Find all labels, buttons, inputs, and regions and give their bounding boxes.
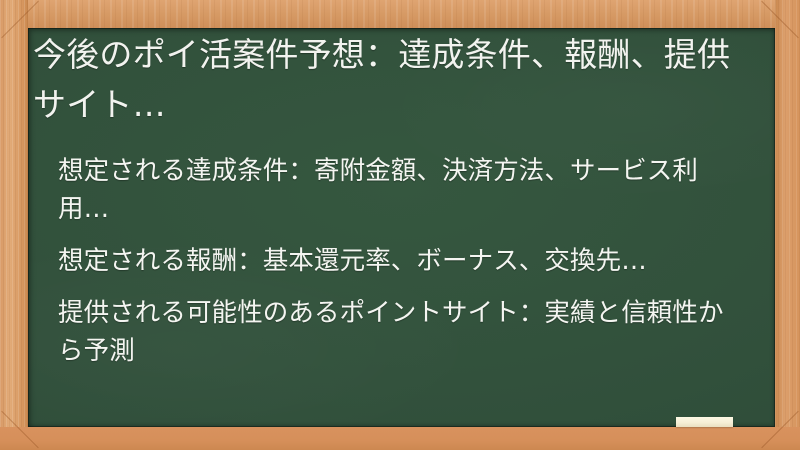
- chalk-stick-icon: [676, 417, 733, 427]
- slide-canvas: 今後のポイ活案件予想：達成条件、報酬、提供サイト… 想定される達成条件：寄附金額…: [0, 0, 800, 450]
- list-item: 想定される報酬：基本還元率、ボーナス、交換先…: [58, 242, 748, 280]
- list-item: 想定される達成条件：寄附金額、決済方法、サービス利用…: [58, 152, 748, 228]
- frame-rail-top: [0, 0, 800, 28]
- slide-title: 今後のポイ活案件予想：達成条件、報酬、提供サイト…: [33, 30, 745, 130]
- frame-rail-left: [0, 0, 28, 450]
- frame-rail-right: [775, 0, 800, 450]
- bullet-list: 想定される達成条件：寄附金額、決済方法、サービス利用… 想定される報酬：基本還元…: [58, 152, 748, 370]
- blackboard-content: 今後のポイ活案件予想：達成条件、報酬、提供サイト… 想定される達成条件：寄附金額…: [28, 28, 775, 427]
- frame-ledge-bottom: [0, 427, 800, 450]
- blackboard-surface: 今後のポイ活案件予想：達成条件、報酬、提供サイト… 想定される達成条件：寄附金額…: [28, 28, 775, 427]
- list-item: 提供される可能性のあるポイントサイト：実績と信頼性から予測: [58, 294, 748, 370]
